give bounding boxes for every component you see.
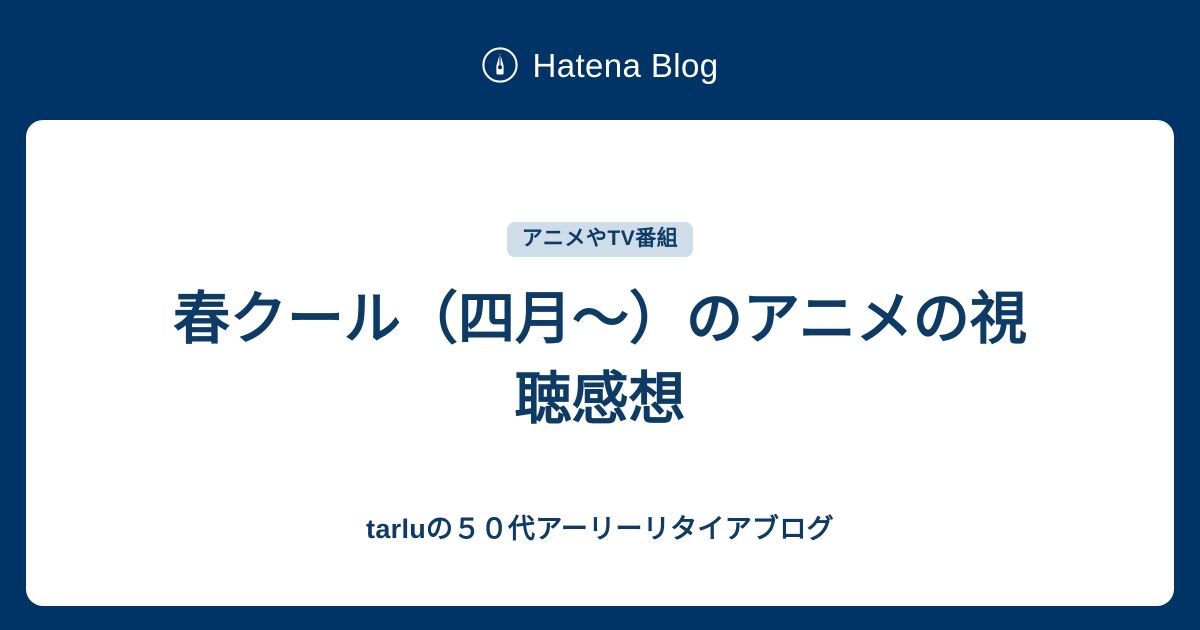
hatena-blog-brand: Hatena Blog — [0, 40, 1200, 90]
brand-name-label: Hatena Blog — [532, 49, 718, 82]
hatena-pen-nib-icon — [481, 46, 519, 84]
blog-name: tarluの５０代アーリーリタイアブログ — [26, 512, 1174, 547]
category-badge[interactable]: アニメやTV番組 — [507, 222, 693, 257]
category-badge-row: アニメやTV番組 — [507, 222, 693, 257]
og-image-card: Hatena Blog アニメやTV番組 春クール（四月〜）のアニメの視聴感想 … — [0, 0, 1200, 630]
entry-panel: アニメやTV番組 春クール（四月〜）のアニメの視聴感想 tarluの５０代アーリ… — [26, 120, 1174, 606]
entry-title: 春クール（四月〜）のアニメの視聴感想 — [170, 279, 1030, 439]
entry-title-line-1: 春クール（四月〜）のアニメの — [173, 287, 970, 351]
